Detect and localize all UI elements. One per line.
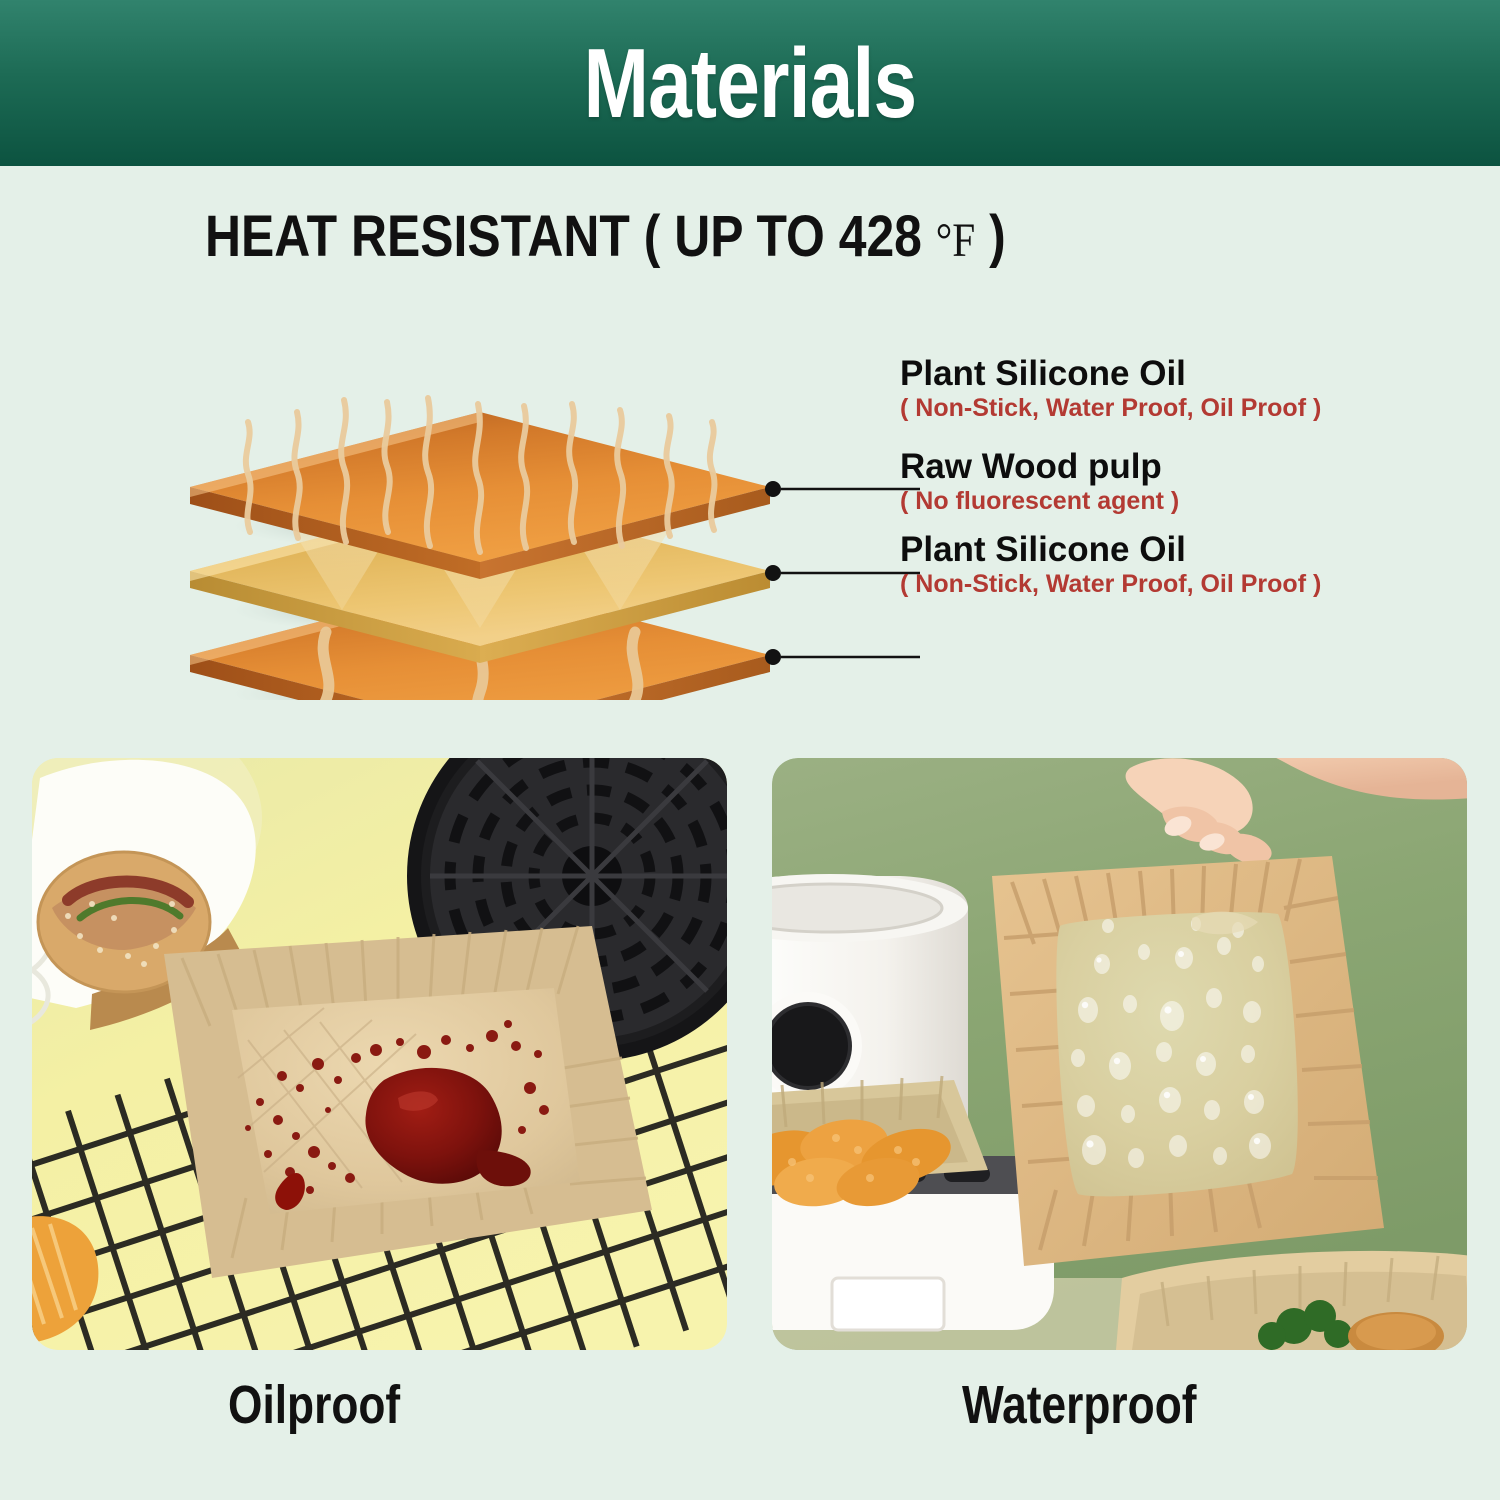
- layer-diagram: [130, 280, 920, 700]
- leader-dot-middle: [765, 565, 781, 581]
- oilproof-photo: [32, 758, 727, 1350]
- photo-panel-waterproof: [772, 758, 1467, 1350]
- heat-resistant-subtitle: HEAT RESISTANT ( UP TO 428 °F ): [205, 208, 1136, 266]
- degree-fahrenheit-symbol: °F: [936, 214, 975, 267]
- caption-waterproof-label: Waterproof: [962, 1378, 1197, 1432]
- layer-diagram-svg: [130, 280, 920, 700]
- callout-plant-silicone-oil-bottom: Plant Silicone Oil ( Non-Stick, Water Pr…: [900, 531, 1321, 599]
- callout-subtitle: ( Non-Stick, Water Proof, Oil Proof ): [900, 570, 1321, 599]
- page-title: Materials: [584, 34, 917, 132]
- leader-dot-bottom: [765, 649, 781, 665]
- callout-subtitle: ( Non-Stick, Water Proof, Oil Proof ): [900, 394, 1321, 423]
- subtitle-text-after: ): [975, 204, 1005, 269]
- page-header: Materials: [0, 0, 1500, 166]
- callout-title: Plant Silicone Oil: [900, 355, 1321, 393]
- caption-oilproof-label: Oilproof: [228, 1378, 400, 1432]
- liner-with-water-droplets: [992, 856, 1384, 1266]
- callout-raw-wood-pulp: Raw Wood pulp ( No fluorescent agent ): [900, 448, 1179, 516]
- callout-title: Plant Silicone Oil: [900, 531, 1321, 569]
- callout-subtitle: ( No fluorescent agent ): [900, 487, 1179, 516]
- caption-waterproof: Waterproof: [962, 1378, 1248, 1432]
- callout-leaders: [765, 481, 920, 665]
- subtitle-text-before: HEAT RESISTANT ( UP TO 428: [205, 204, 936, 269]
- leader-dot-top: [765, 481, 781, 497]
- callout-plant-silicone-oil-top: Plant Silicone Oil ( Non-Stick, Water Pr…: [900, 355, 1321, 423]
- callout-title: Raw Wood pulp: [900, 448, 1179, 486]
- caption-oilproof: Oilproof: [228, 1378, 438, 1432]
- waterproof-photo: [772, 758, 1467, 1350]
- photo-panel-oilproof: [32, 758, 727, 1350]
